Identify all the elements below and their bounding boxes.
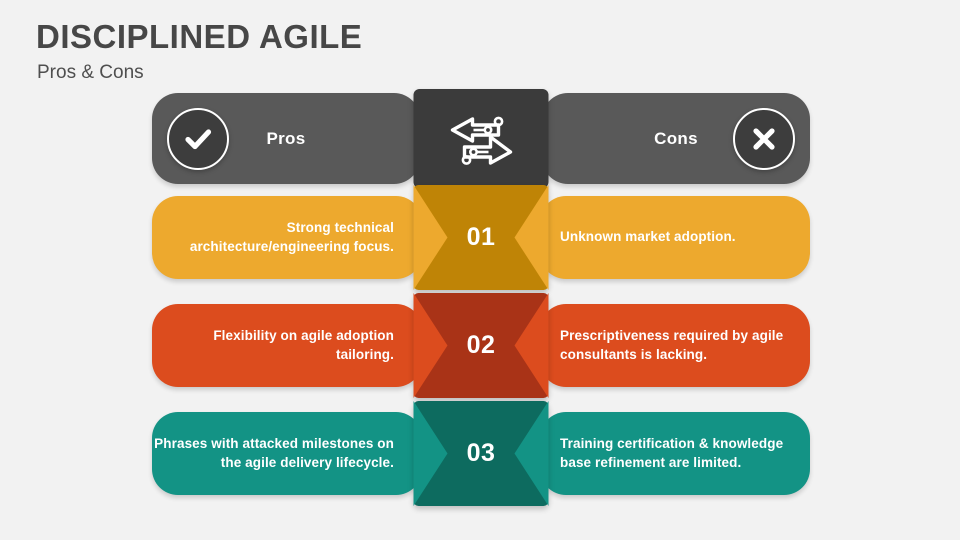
cons-label: Cons xyxy=(654,129,698,149)
bidirectional-arrow-icon xyxy=(446,108,516,170)
arrow-left-shape xyxy=(515,401,549,506)
pro-text: Strong technical architecture/engineerin… xyxy=(152,219,422,256)
close-icon xyxy=(747,122,781,156)
con-text: Prescriptiveness required by agile consu… xyxy=(540,327,810,364)
con-text: Unknown market adoption. xyxy=(540,228,736,247)
check-circle-icon[interactable] xyxy=(167,108,229,170)
page-subtitle: Pros & Cons xyxy=(37,62,144,85)
page-title: DISCIPLINED AGILE xyxy=(36,18,362,56)
table-row: Flexibility on agile adoption tailoring.… xyxy=(152,304,810,387)
arrow-left-shape xyxy=(515,293,549,398)
arrow-right-shape xyxy=(414,185,448,290)
row-number-block: 03 xyxy=(414,401,549,506)
con-cell[interactable]: Training certification & knowledge base … xyxy=(540,412,810,495)
pro-text: Phrases with attacked milestones on the … xyxy=(152,435,422,472)
row-number: 03 xyxy=(467,439,496,468)
arrow-right-shape xyxy=(414,293,448,398)
header-row: Pros Cons xyxy=(152,93,810,184)
row-number: 01 xyxy=(467,223,496,252)
pros-label: Pros xyxy=(267,129,306,149)
table-row: Strong technical architecture/engineerin… xyxy=(152,196,810,279)
con-cell[interactable]: Unknown market adoption. xyxy=(540,196,810,279)
slide-canvas: DISCIPLINED AGILE Pros & Cons Pros Cons xyxy=(0,0,960,540)
pro-text: Flexibility on agile adoption tailoring. xyxy=(152,327,422,364)
row-number-block: 02 xyxy=(414,293,549,398)
pro-cell[interactable]: Strong technical architecture/engineerin… xyxy=(152,196,422,279)
arrow-right-shape xyxy=(414,401,448,506)
pro-cell[interactable]: Phrases with attacked milestones on the … xyxy=(152,412,422,495)
con-cell[interactable]: Prescriptiveness required by agile consu… xyxy=(540,304,810,387)
header-center-block xyxy=(414,89,549,188)
table-row: Phrases with attacked milestones on the … xyxy=(152,412,810,495)
row-number-block: 01 xyxy=(414,185,549,290)
con-text: Training certification & knowledge base … xyxy=(540,435,810,472)
pro-cell[interactable]: Flexibility on agile adoption tailoring. xyxy=(152,304,422,387)
x-circle-icon[interactable] xyxy=(733,108,795,170)
row-number: 02 xyxy=(467,331,496,360)
arrow-left-shape xyxy=(515,185,549,290)
check-icon xyxy=(181,122,215,156)
